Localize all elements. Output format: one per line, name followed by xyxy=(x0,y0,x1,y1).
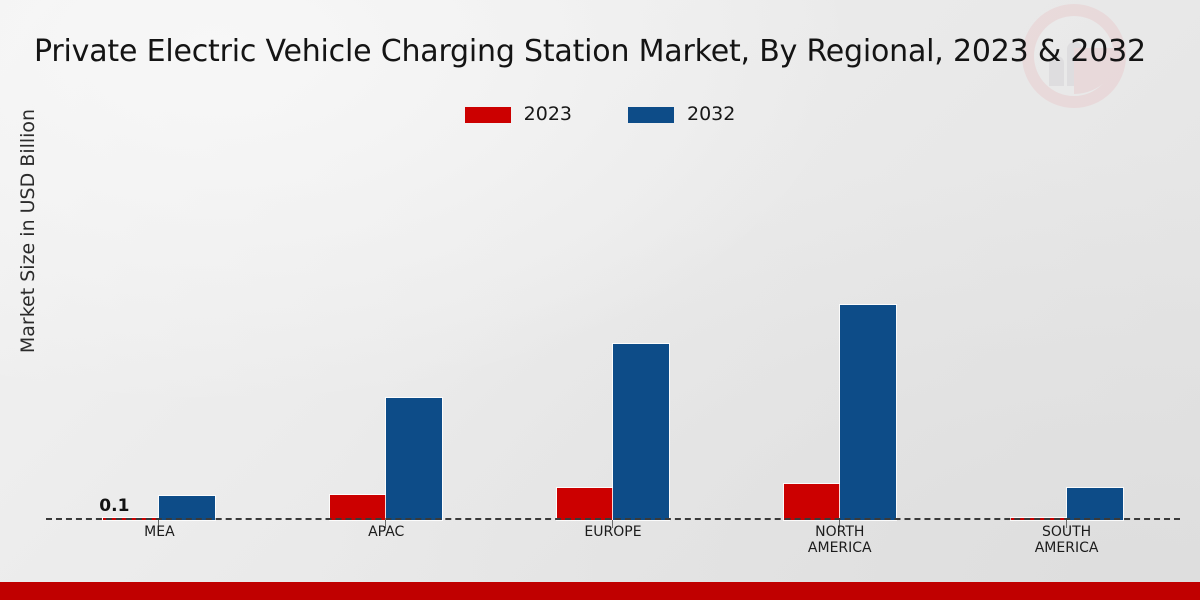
chart-canvas: Private Electric Vehicle Charging Statio… xyxy=(0,0,1200,600)
bar-group-mea: 0.1 xyxy=(46,140,273,520)
x-label-north-america: NORTH AMERICA xyxy=(726,524,953,556)
bar-europe-2023[interactable] xyxy=(557,488,613,520)
x-label-north-america-line2: AMERICA xyxy=(726,540,953,556)
x-label-mea: MEA xyxy=(46,524,273,556)
bar-north-america-2032[interactable] xyxy=(840,305,896,520)
bar-groups: 0.1 xyxy=(46,140,1180,520)
bar-apac-2032[interactable] xyxy=(386,398,442,520)
bar-europe-2032[interactable] xyxy=(613,344,669,520)
bottom-accent-strip xyxy=(0,582,1200,600)
x-label-north-america-line1: NORTH xyxy=(726,524,953,540)
legend-swatch-2023 xyxy=(465,107,511,123)
legend-swatch-2032 xyxy=(628,107,674,123)
legend-item-2032[interactable]: 2032 xyxy=(628,105,735,124)
bar-group-europe xyxy=(500,140,727,520)
chart-legend: 2023 2032 xyxy=(0,105,1200,124)
x-label-apac-line1: APAC xyxy=(273,524,500,540)
x-label-south-america-line2: AMERICA xyxy=(953,540,1180,556)
bar-south-america-2032[interactable] xyxy=(1067,488,1123,520)
x-axis-baseline xyxy=(46,518,1180,520)
chart-title: Private Electric Vehicle Charging Statio… xyxy=(0,34,1180,69)
x-label-europe: EUROPE xyxy=(500,524,727,556)
bar-apac-2023[interactable] xyxy=(330,495,386,520)
bar-value-mea-2023: 0.1 xyxy=(99,496,129,516)
bar-group-north-america xyxy=(726,140,953,520)
plot-area: 0.1 xyxy=(46,140,1180,520)
x-label-south-america-line1: SOUTH xyxy=(953,524,1180,540)
x-axis-labels: MEA APAC EUROPE NORTH AMERICA SOUTH AMER… xyxy=(46,524,1180,556)
x-label-south-america: SOUTH AMERICA xyxy=(953,524,1180,556)
x-label-apac: APAC xyxy=(273,524,500,556)
legend-label-2032: 2032 xyxy=(687,105,735,124)
y-axis-title: Market Size in USD Billion xyxy=(17,51,39,411)
bar-north-america-2023[interactable] xyxy=(784,484,840,520)
bar-group-south-america xyxy=(953,140,1180,520)
x-label-mea-line1: MEA xyxy=(46,524,273,540)
legend-item-2023[interactable]: 2023 xyxy=(465,105,572,124)
bar-group-apac xyxy=(273,140,500,520)
bar-mea-2032[interactable] xyxy=(159,496,215,520)
legend-label-2023: 2023 xyxy=(524,105,572,124)
x-label-europe-line1: EUROPE xyxy=(500,524,727,540)
